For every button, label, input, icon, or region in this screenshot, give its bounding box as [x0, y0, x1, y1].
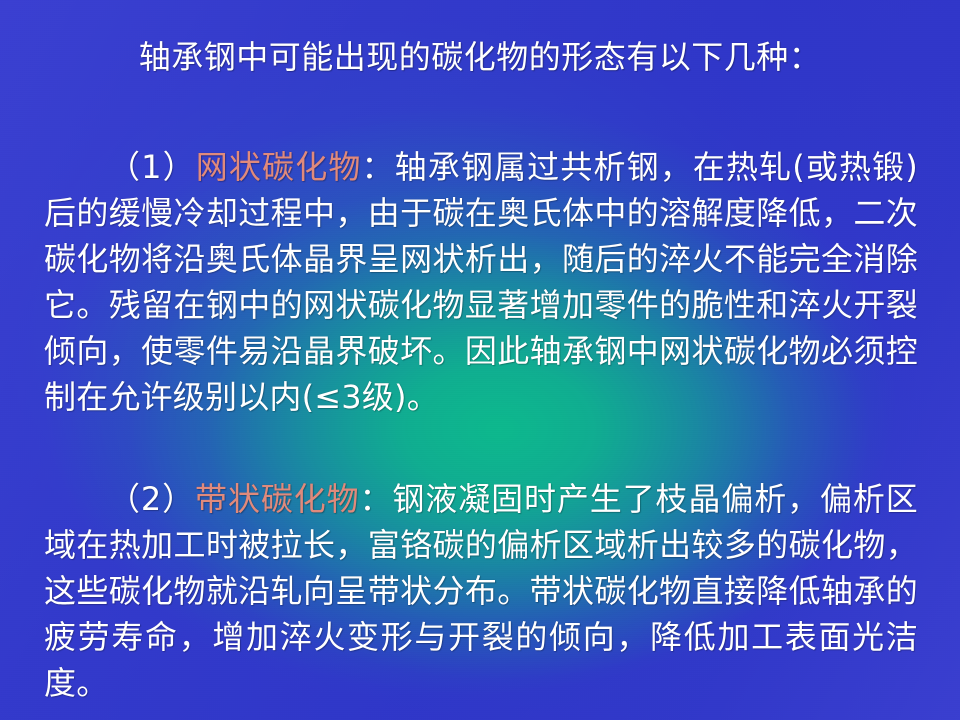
paragraph-1: （1）网状碳化物：轴承钢属过共析钢，在热轧(或热锻)后的缓慢冷却过程中，由于碳在… — [44, 144, 918, 420]
slide-content: 轴承钢中可能出现的碳化物的形态有以下几种： （1）网状碳化物：轴承钢属过共析钢，… — [0, 0, 960, 720]
paragraph-1-keyword: 网状碳化物 — [196, 148, 362, 186]
slide-canvas: 轴承钢中可能出现的碳化物的形态有以下几种： （1）网状碳化物：轴承钢属过共析钢，… — [0, 0, 960, 720]
paragraph-2-separator: ： — [360, 480, 393, 518]
paragraph-1-separator: ： — [361, 148, 394, 186]
paragraph-2-marker: （2） — [108, 480, 195, 518]
page-title: 轴承钢中可能出现的碳化物的形态有以下几种： — [0, 38, 960, 76]
paragraph-2-keyword: 带状碳化物 — [195, 480, 359, 518]
paragraph-2: （2）带状碳化物：钢液凝固时产生了枝晶偏析，偏析区域在热加工时被拉长，富铬碳的偏… — [44, 476, 918, 706]
paragraph-1-body: 轴承钢属过共析钢，在热轧(或热锻)后的缓慢冷却过程中，由于碳在奥氏体中的溶解度降… — [44, 148, 918, 416]
paragraph-1-marker: （1） — [108, 148, 196, 186]
